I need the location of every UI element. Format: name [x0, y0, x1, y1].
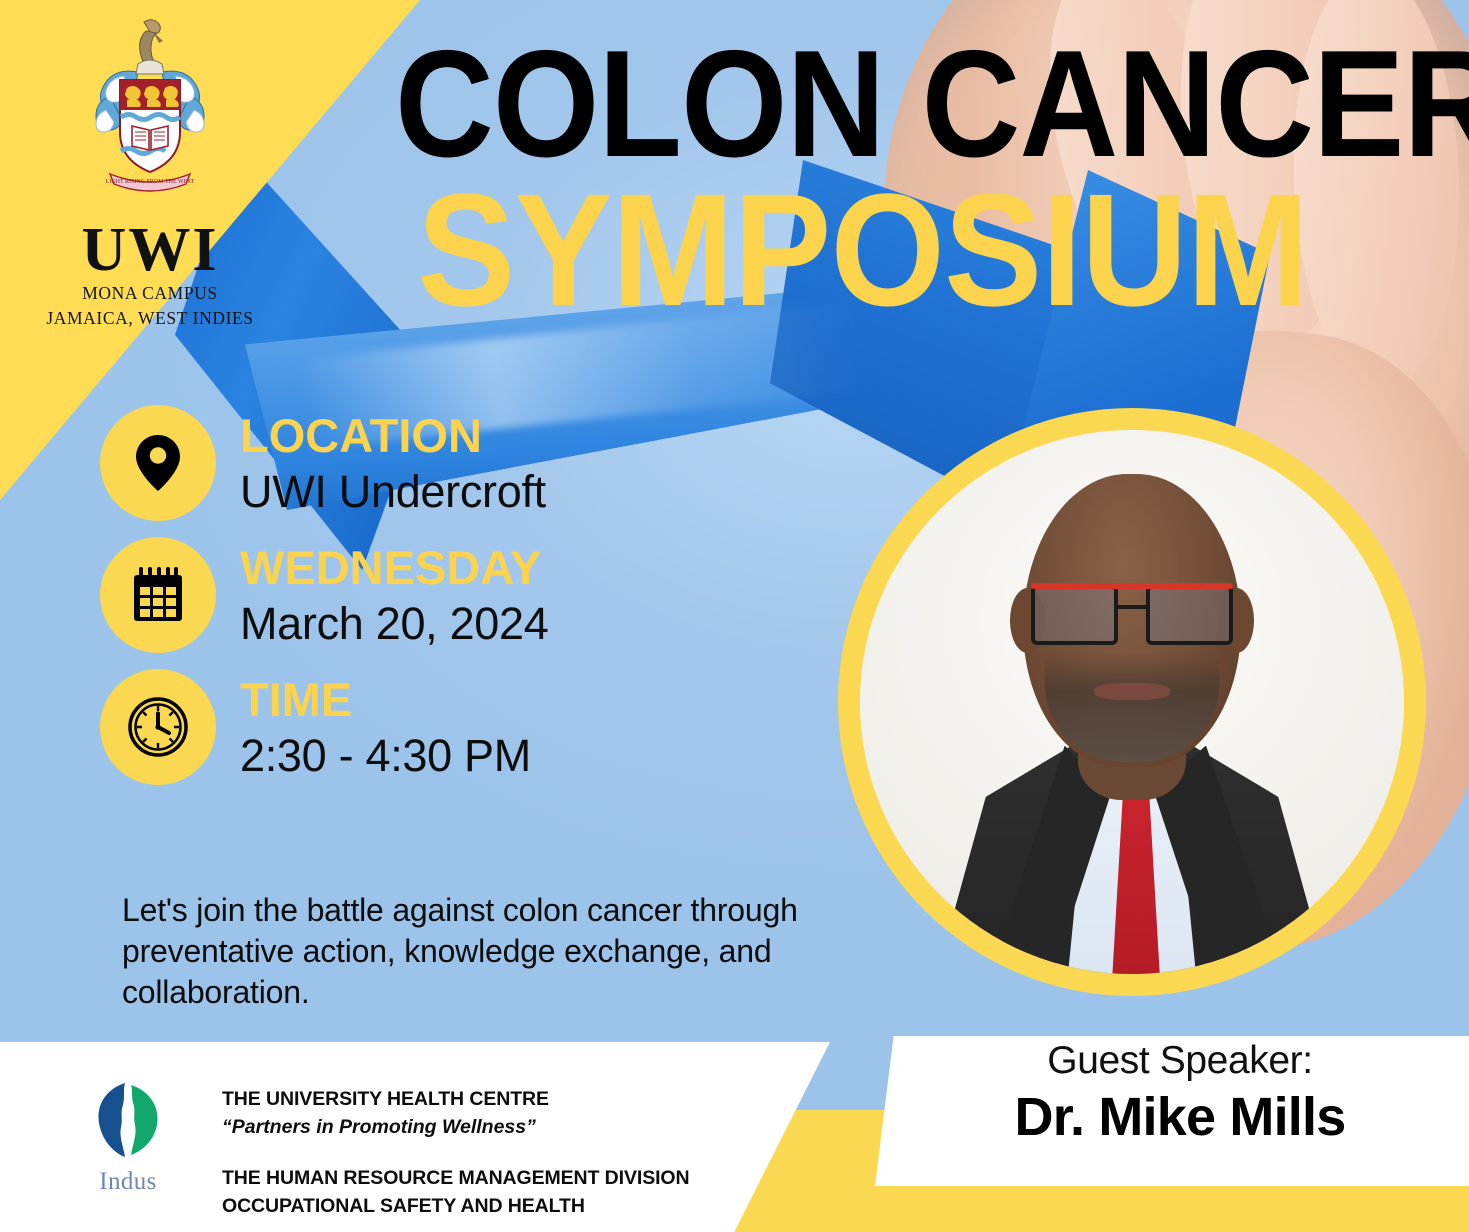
- calendar-icon: [126, 563, 190, 627]
- uwi-logo: LIGHT RISING FROM THE WEST UWI MONA CAMP…: [40, 14, 260, 330]
- partner-line-university-health-centre: THE UNIVERSITY HEALTH CENTRE: [222, 1085, 689, 1113]
- speaker-photo: [860, 430, 1404, 974]
- date-value: March 20, 2024: [240, 598, 549, 650]
- indus-leaf-icon: [92, 1079, 164, 1167]
- time-value: 2:30 - 4:30 PM: [240, 730, 531, 782]
- clock-icon: [126, 695, 190, 759]
- poster-title: COLON CANCER SYMPOSIUM: [395, 38, 1455, 322]
- detail-row-location: LOCATION UWI Undercroft: [100, 405, 549, 521]
- location-badge: [100, 405, 216, 521]
- lens-left: [1031, 585, 1118, 645]
- uwi-wordmark: UWI: [40, 221, 260, 280]
- location-label: LOCATION: [240, 411, 546, 460]
- uwi-campus-line-1: MONA CAMPUS: [40, 283, 260, 305]
- speaker-photo-frame: [838, 408, 1426, 996]
- uwi-crest-icon: LIGHT RISING FROM THE WEST: [80, 14, 220, 229]
- speaker-caption: Guest Speaker: Dr. Mike Mills: [900, 1040, 1460, 1147]
- partners-block: Indus THE UNIVERSITY HEALTH CENTRE “Part…: [80, 1075, 689, 1220]
- time-badge: [100, 669, 216, 785]
- event-details: LOCATION UWI Undercroft: [100, 405, 549, 801]
- svg-text:LIGHT RISING FROM THE WEST: LIGHT RISING FROM THE WEST: [106, 179, 195, 185]
- date-label: WEDNESDAY: [240, 543, 549, 592]
- detail-row-time: TIME 2:30 - 4:30 PM: [100, 669, 549, 785]
- partner-spacer: [222, 1142, 689, 1164]
- guest-speaker-label: Guest Speaker:: [900, 1040, 1460, 1083]
- time-label: TIME: [240, 675, 531, 724]
- event-blurb: Let's join the battle against colon canc…: [122, 890, 842, 1013]
- map-pin-icon: [126, 431, 190, 495]
- location-text: LOCATION UWI Undercroft: [240, 405, 546, 518]
- detail-row-date: WEDNESDAY March 20, 2024: [100, 537, 549, 653]
- portrait-illustration: [860, 430, 1404, 974]
- glasses-bridge: [1118, 605, 1146, 609]
- partner-text-block: THE UNIVERSITY HEALTH CENTRE “Partners i…: [222, 1075, 689, 1220]
- time-text: TIME 2:30 - 4:30 PM: [240, 669, 531, 782]
- partner-tagline: “Partners in Promoting Wellness”: [222, 1113, 689, 1141]
- indus-wordmark: Indus: [80, 1168, 176, 1196]
- poster-canvas: LIGHT RISING FROM THE WEST UWI MONA CAMP…: [0, 0, 1469, 1232]
- location-value: UWI Undercroft: [240, 466, 546, 518]
- uwi-campus-line-2: JAMAICA, WEST INDIES: [40, 308, 260, 330]
- lens-right: [1146, 585, 1233, 645]
- title-line-symposium: SYMPOSIUM: [417, 178, 1372, 322]
- indus-logo: Indus: [80, 1079, 176, 1196]
- date-text: WEDNESDAY March 20, 2024: [240, 537, 549, 650]
- portrait-mouth: [1094, 683, 1170, 700]
- partner-line-occupational-safety: OCCUPATIONAL SAFETY AND HEALTH: [222, 1192, 689, 1220]
- partner-line-hr-division: THE HUMAN RESOURCE MANAGEMENT DIVISION: [222, 1164, 689, 1192]
- guest-speaker-name: Dr. Mike Mills: [900, 1087, 1460, 1147]
- title-line-colon-cancer: COLON CANCER: [395, 38, 1349, 172]
- glasses-top-bar: [1031, 583, 1232, 589]
- eyeglasses-icon: [1031, 585, 1232, 645]
- date-badge: [100, 537, 216, 653]
